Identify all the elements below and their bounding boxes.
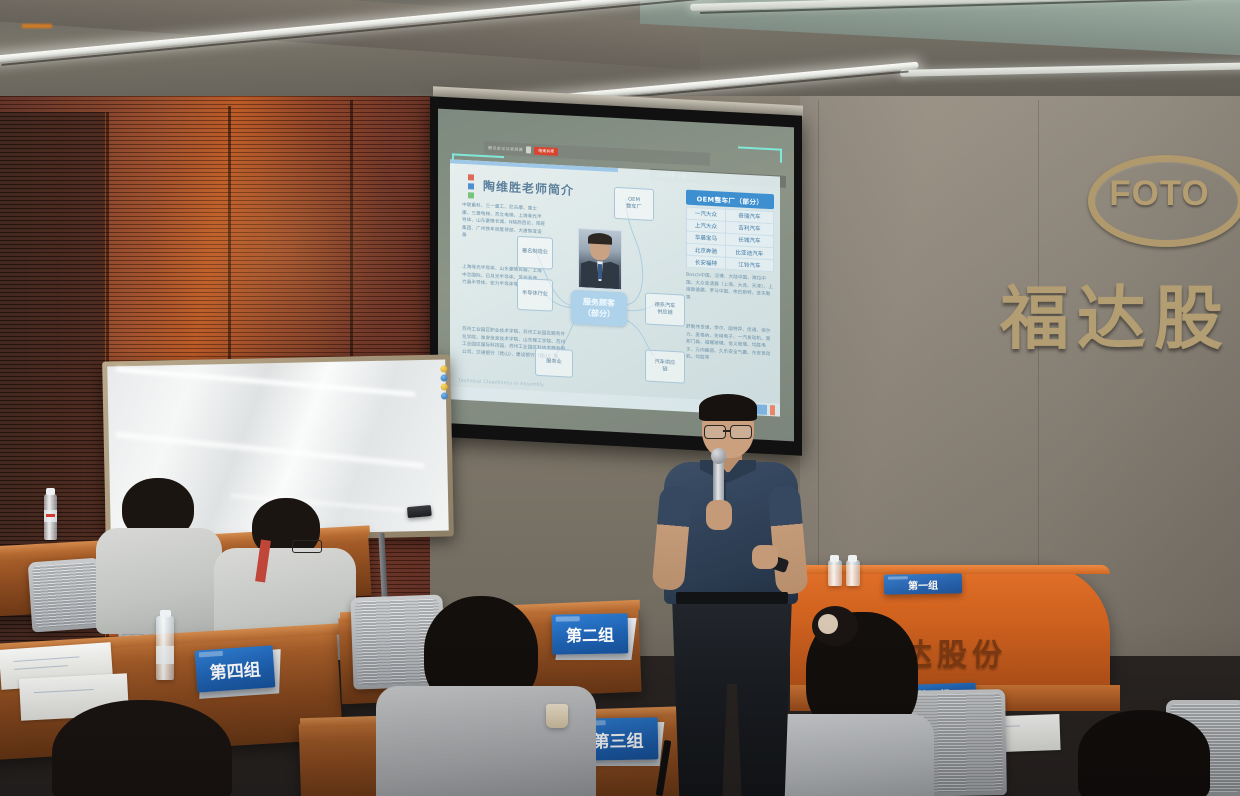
water-bottle-2[interactable]	[156, 616, 174, 680]
stop-share-button[interactable]: 结束共享	[534, 146, 558, 155]
wall-company-name: 福达股	[1000, 262, 1231, 362]
slide-text-block-5: 舒勒伟世通、李尔、固特异、佳通、佰尔力、麦格纳、矢崎电子、一汽发动机、富邦门森、…	[686, 324, 774, 367]
conference-room-photo: FOTO 福达股 腾讯会议共享屏幕 结束共享 正在共享 · 共享 陶维胜老师简介	[0, 0, 1240, 796]
mindmap-node-oem: OEM 整车厂	[614, 187, 654, 221]
table-card-group-4-label: 第四组	[209, 655, 262, 683]
eyeglasses-icon	[292, 540, 322, 553]
speaker-trousers	[672, 596, 792, 796]
speaker-belt	[676, 592, 788, 604]
water-bottle-4[interactable]	[846, 560, 860, 586]
hair-clip	[818, 614, 838, 634]
projection-screen-surface: 腾讯会议共享屏幕 结束共享 正在共享 · 共享 陶维胜老师简介	[438, 109, 794, 442]
mindmap-node-service-industry: 服务业	[535, 348, 573, 378]
oem-table-body: 一汽大众奇瑞汽车 上汽大众吉利汽车 华晨宝马长城汽车 北京奔驰比亚迪汽车 长安福…	[687, 207, 774, 272]
eyeglasses-right-lens-icon	[730, 425, 752, 439]
oem-table: OEM整车厂（部分） 一汽大众奇瑞汽车 上汽大众吉利汽车 华晨宝马长城汽车 北京…	[686, 190, 774, 273]
mindmap-node-auto-supply-chain: 汽车供应 链	[645, 350, 685, 384]
oem-cell: 长安福特	[687, 255, 726, 269]
table-card-group-4[interactable]: 第四组	[195, 645, 276, 692]
screen-share-icon	[526, 146, 531, 153]
oem-cell: 江铃汽车	[725, 257, 773, 272]
water-bottle-3[interactable]	[828, 560, 842, 586]
instructor-portrait-photo	[578, 228, 622, 290]
microphone-head	[711, 448, 726, 464]
presentation-slide: 陶维胜老师简介 中联重科、三一重工、尼古康、富士康、三菱电梯、苏立电梯、上海菲光…	[450, 159, 780, 416]
ceiling-light-strip-4	[900, 62, 1240, 77]
table-card-group-1-label: 第一组	[908, 576, 938, 592]
slide-page-accent	[770, 405, 775, 415]
speaker-hair	[699, 394, 757, 421]
paper-cup-center[interactable]	[546, 704, 568, 728]
mindmap-node-famous-manufacturing: 著名制造业	[517, 236, 553, 270]
eyeglasses-bridge-icon	[723, 430, 731, 432]
mindmap-node-german-auto-supply-chain: 德系汽车 供应链	[645, 293, 685, 327]
foto-logo-text: FOTO	[1088, 155, 1231, 233]
whiteboard-eraser[interactable]	[407, 505, 432, 518]
mindmap-node-semiconductor: 半导体行业	[517, 278, 553, 312]
amplifier-power-glow	[22, 24, 52, 28]
mindmap-center-node: 服务顾客 （部分）	[571, 290, 627, 327]
table-card-group-2-label: 第二组	[566, 622, 614, 647]
chair-1[interactable]	[28, 558, 105, 633]
speaker-hand-holding-clicker	[752, 545, 778, 569]
speaker-hand-holding-mic	[706, 500, 732, 530]
meeting-toolbar-label: 腾讯会议共享屏幕	[488, 145, 523, 153]
table-card-group-1[interactable]: 第一组	[884, 573, 962, 594]
table-card-group-2[interactable]: 第二组	[552, 613, 629, 654]
table-card-group-3-label: 第三组	[592, 726, 643, 752]
water-bottle-1[interactable]	[44, 494, 57, 540]
slide-text-block-4: Bosch中国、泛博、大陆中国、海拉中国、大众变速器（上海、大连、天津）、上海聚…	[686, 272, 774, 307]
eyeglasses-left-lens-icon	[704, 425, 726, 439]
